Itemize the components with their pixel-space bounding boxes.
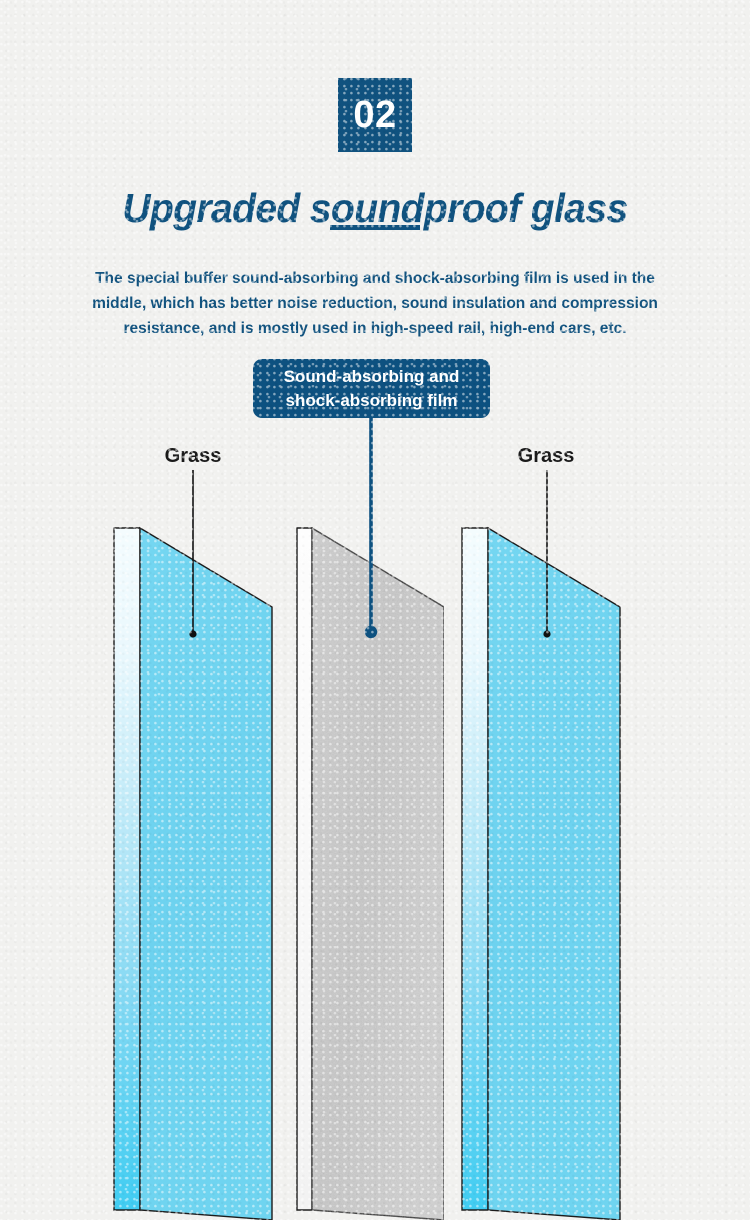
glass-layers-diagram [0,330,750,1220]
film-panel-face [312,528,444,1220]
glass-panel-right-face [488,528,620,1220]
glass-panel-right [462,528,620,1220]
step-number-badge: 02 [338,78,412,152]
film-callout-line-2: shock-absorbing film [284,389,460,413]
film-callout-line-1: Sound-absorbing and [284,365,460,389]
film-panel-edge [297,528,312,1210]
glass-panel-right-edge [462,528,488,1210]
glass-panel-left-edge [114,528,140,1210]
title-divider [330,225,420,230]
glass-panel-left-face [140,528,272,1220]
film-callout-badge: Sound-absorbing and shock-absorbing film [253,359,490,418]
page-canvas: 02 Upgraded soundproof glass The special… [0,0,750,1220]
